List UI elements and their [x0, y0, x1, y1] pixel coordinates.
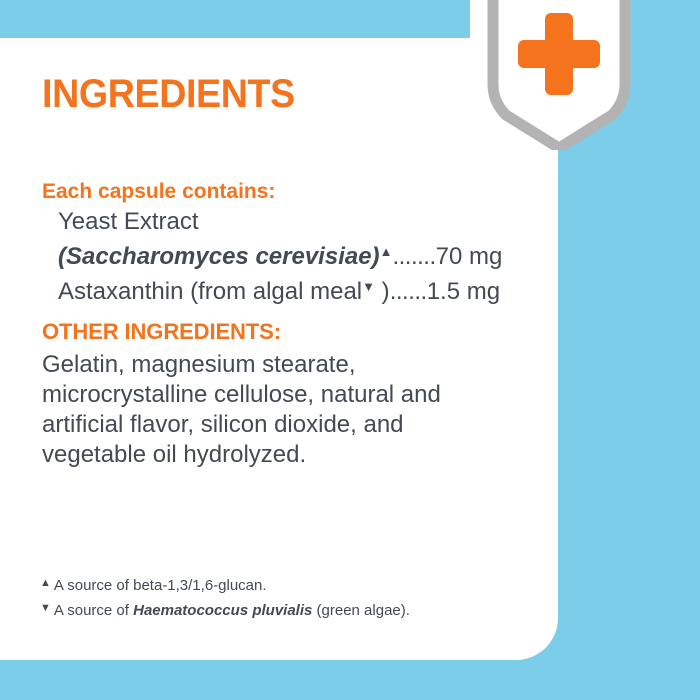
dot-leader: ...... [390, 278, 427, 305]
ingredient-amount: 70 mg [436, 243, 503, 270]
ingredient-latin-name: (Saccharomyces cerevisiae) [58, 243, 380, 270]
ingredient-amount: 1.5 mg [427, 278, 500, 305]
other-ingredients-heading: OTHER INGREDIENTS: [42, 318, 512, 347]
footnote-text: A source of [54, 602, 133, 619]
ingredient-name: Astaxanthin (from algal meal [58, 278, 362, 305]
footnotes-section: ▲A source of beta-1,3/1,6-glucan. ▼A sou… [40, 572, 540, 622]
ingredient-name-suffix: ) [375, 278, 390, 305]
supplement-facts-section: Each capsule contains: Yeast Extract (Sa… [42, 178, 542, 307]
ingredient-row: (Saccharomyces cerevisiae)▲.......70 mg [58, 237, 542, 272]
footnote-item: ▲A source of beta-1,3/1,6-glucan. [40, 572, 540, 597]
supplement-facts-heading: Each capsule contains: [42, 178, 542, 205]
footnote-species-name: Haematococcus pluvialis [133, 602, 312, 619]
footnote-marker-triangle-up: ▲ [380, 244, 393, 259]
dot-leader: ....... [392, 243, 435, 270]
footnote-text-suffix: (green algae). [312, 602, 410, 619]
footnote-item: ▼A source of Haematococcus pluvialis (gr… [40, 597, 540, 622]
ingredient-rows: Yeast Extract (Saccharomyces cerevisiae)… [42, 207, 542, 307]
footnote-marker-triangle-up: ▲ [40, 577, 51, 589]
footnote-text: A source of beta-1,3/1,6-glucan. [54, 577, 267, 594]
other-ingredients-text: Gelatin, magnesium stearate, microcrysta… [42, 350, 512, 470]
label-canvas: INGREDIENTS Each capsule contains: Yeast… [0, 0, 700, 700]
shield-emblem [484, 0, 634, 150]
ingredient-row: Astaxanthin (from algal meal▼ )......1.5… [58, 272, 542, 307]
footnote-marker-triangle-down: ▼ [362, 279, 375, 294]
page-title: INGREDIENTS [42, 74, 295, 114]
ingredient-row: Yeast Extract [58, 207, 542, 237]
footnote-marker-triangle-down: ▼ [40, 602, 51, 614]
ingredient-name-line1: Yeast Extract [58, 208, 199, 235]
other-ingredients-section: OTHER INGREDIENTS: Gelatin, magnesium st… [42, 318, 512, 470]
